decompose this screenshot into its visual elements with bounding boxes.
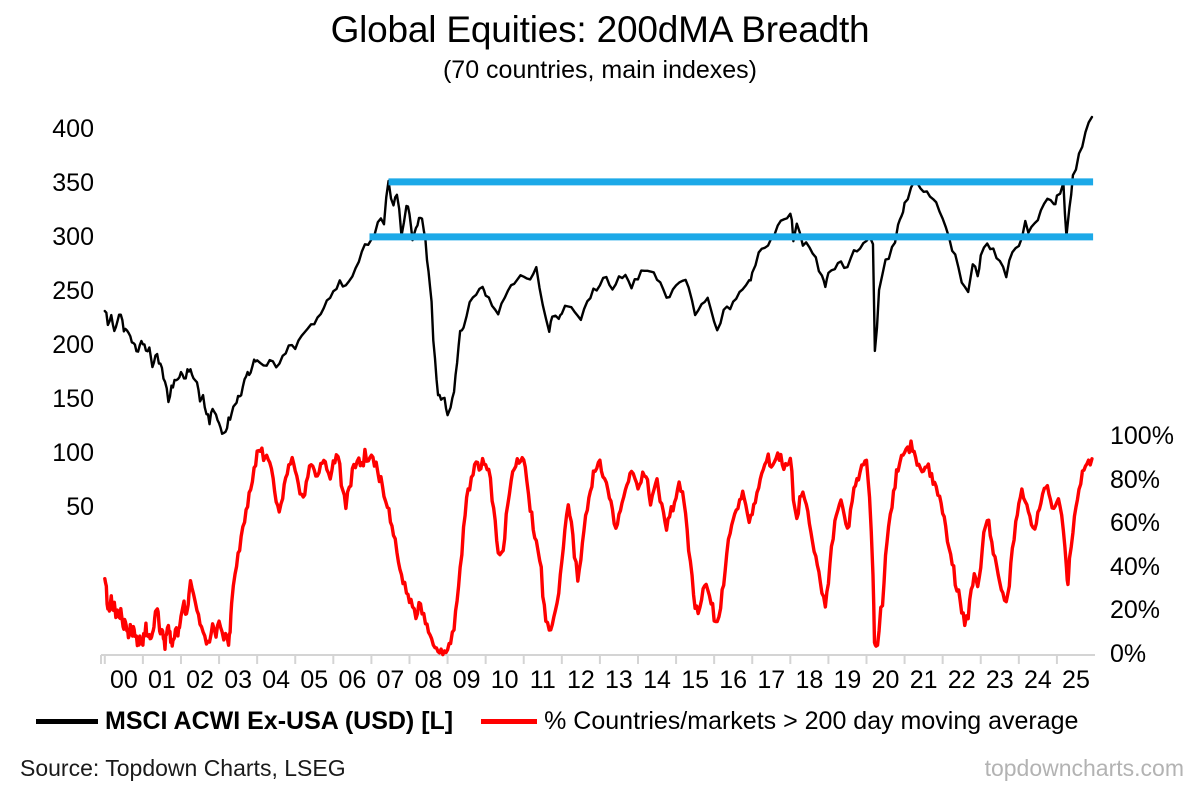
x-axis-tick: 22 xyxy=(942,668,982,693)
source-note: Source: Topdown Charts, LSEG xyxy=(20,755,346,781)
y-axis-left-tick: 150 xyxy=(8,387,94,412)
x-axis-tick: 01 xyxy=(142,668,182,693)
x-axis-tick: 02 xyxy=(180,668,220,693)
x-axis-tick: 25 xyxy=(1056,668,1096,693)
y-axis-right-tick: 100% xyxy=(1110,424,1200,449)
y-axis-left-tick: 200 xyxy=(8,333,94,358)
x-axis-tick: 23 xyxy=(980,668,1020,693)
x-axis-tick: 18 xyxy=(789,668,829,693)
x-axis-tick: 03 xyxy=(218,668,258,693)
x-axis-tick: 04 xyxy=(256,668,296,693)
legend-row: MSCI ACWI Ex-USA (USD) [L] % Countries/m… xyxy=(36,708,1078,734)
y-axis-left-tick: 100 xyxy=(8,441,94,466)
x-axis-tick: 10 xyxy=(485,668,525,693)
x-axis-tick: 19 xyxy=(827,668,867,693)
x-axis-tick: 08 xyxy=(409,668,449,693)
x-axis-tick: 17 xyxy=(751,668,791,693)
y-axis-right-tick: 0% xyxy=(1110,642,1200,667)
x-axis-tick: 12 xyxy=(561,668,601,693)
y-axis-left-tick: 50 xyxy=(8,495,94,520)
x-axis-tick: 21 xyxy=(904,668,944,693)
x-axis-tick: 11 xyxy=(523,668,563,693)
y-axis-right-tick: 40% xyxy=(1110,555,1200,580)
x-axis-tick: 07 xyxy=(370,668,410,693)
y-axis-left-tick: 250 xyxy=(8,279,94,304)
x-axis-tick: 00 xyxy=(104,668,144,693)
legend-label-breadth: % Countries/markets > 200 day moving ave… xyxy=(544,708,1078,734)
x-axis-tick: 06 xyxy=(332,668,372,693)
legend-swatch-red xyxy=(481,719,537,724)
y-axis-left-tick: 300 xyxy=(8,225,94,250)
y-axis-right-tick: 20% xyxy=(1110,598,1200,623)
y-axis-right-tick: 80% xyxy=(1110,468,1200,493)
y-axis-left-tick: 350 xyxy=(8,171,94,196)
chart-legend: MSCI ACWI Ex-USA (USD) [L] % Countries/m… xyxy=(0,708,1200,748)
x-axis-tick: 20 xyxy=(866,668,906,693)
legend-swatch-black xyxy=(36,719,98,724)
watermark: topdowncharts.com xyxy=(985,755,1184,781)
x-axis-tick: 05 xyxy=(294,668,334,693)
legend-item-index: MSCI ACWI Ex-USA (USD) [L] xyxy=(36,708,453,734)
x-axis-tick: 24 xyxy=(1018,668,1058,693)
x-axis-tick: 13 xyxy=(599,668,639,693)
y-axis-left-tick: 400 xyxy=(8,117,94,142)
chart-page: Global Equities: 200dMA Breadth (70 coun… xyxy=(0,0,1200,791)
x-axis-tick: 09 xyxy=(447,668,487,693)
x-axis-tick: 14 xyxy=(637,668,677,693)
y-axis-right-tick: 60% xyxy=(1110,511,1200,536)
legend-label-index: MSCI ACWI Ex-USA (USD) [L] xyxy=(105,708,453,734)
x-axis-tick: 16 xyxy=(713,668,753,693)
x-axis-tick: 15 xyxy=(675,668,715,693)
legend-item-breadth: % Countries/markets > 200 day moving ave… xyxy=(481,708,1078,734)
